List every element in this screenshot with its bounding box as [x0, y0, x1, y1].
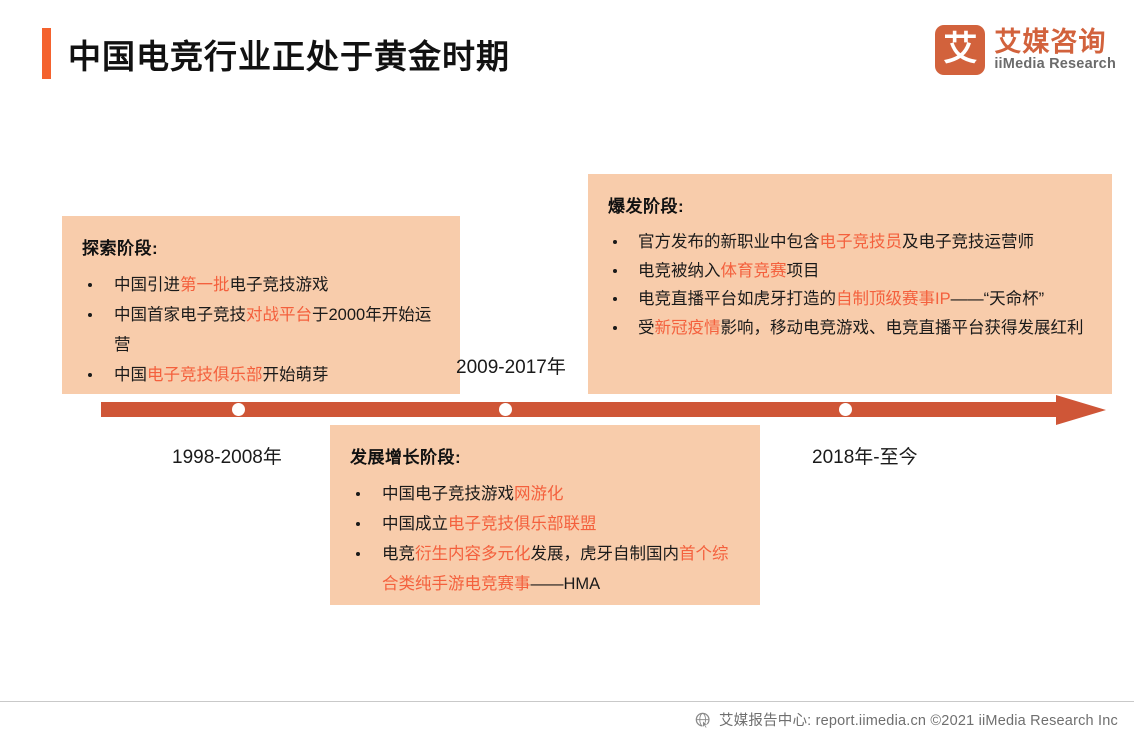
- page-title: 中国电竞行业正处于黄金时期: [68, 30, 510, 78]
- phase-box-explosion: 爆发阶段: 官方发布的新职业中包含电子竞技员及电子竞技运营师电竞被纳入体育竞赛项…: [588, 174, 1112, 394]
- phase-bullet-item: 中国首家电子竞技对战平台于2000年开始运营: [82, 300, 444, 360]
- highlight-text: 新冠疫情: [655, 319, 721, 337]
- bullet-text: 电子竞技游戏: [230, 276, 329, 294]
- bullet-text: 官方发布的新职业中包含: [638, 233, 820, 251]
- slide-footer: 艾媒报告中心: report.iimedia.cn ©2021 iiMedia …: [0, 701, 1134, 737]
- phase-bullet-item: 中国电子竞技游戏网游化: [350, 479, 744, 509]
- phase-bullet-item: 中国成立电子竞技俱乐部联盟: [350, 509, 744, 539]
- bullet-text: 中国首家电子竞技: [114, 306, 246, 324]
- phase-box-exploration: 探索阶段: 中国引进第一批电子竞技游戏中国首家电子竞技对战平台于2000年开始运…: [62, 216, 460, 394]
- timeline-bar: [101, 402, 1064, 417]
- timeline-arrowhead-icon: [1056, 395, 1106, 425]
- period-label-2018-now: 2018年-至今: [812, 442, 918, 469]
- phase-bullet-item: 中国电子竞技俱乐部开始萌芽: [82, 360, 444, 390]
- timeline-arrow: [101, 399, 1105, 419]
- timeline-dot-2[interactable]: [839, 403, 852, 416]
- highlight-text: 网游化: [514, 485, 564, 503]
- globe-cursor-icon: [695, 712, 712, 729]
- highlight-text: 对战平台: [246, 306, 312, 324]
- highlight-text: 衍生内容多元化: [415, 545, 531, 563]
- timeline-dot-0[interactable]: [232, 403, 245, 416]
- bullet-text: 中国引进: [114, 276, 180, 294]
- phase-bullet-list: 中国引进第一批电子竞技游戏中国首家电子竞技对战平台于2000年开始运营中国电子竞…: [82, 270, 444, 390]
- logo-name-cn: 艾媒咨询: [994, 28, 1116, 56]
- phase-bullet-item: 受新冠疫情影响，移动电竞游戏、电竞直播平台获得发展红利: [608, 314, 1096, 343]
- title-accent-bar: [42, 28, 51, 79]
- highlight-text: 第一批: [180, 276, 230, 294]
- phase-bullet-list: 官方发布的新职业中包含电子竞技员及电子竞技运营师电竞被纳入体育竞赛项目电竞直播平…: [608, 228, 1096, 343]
- bullet-text: 受: [638, 319, 655, 337]
- phase-bullet-item: 官方发布的新职业中包含电子竞技员及电子竞技运营师: [608, 228, 1096, 257]
- bullet-text: 中国成立: [382, 515, 448, 533]
- bullet-text: 中国: [114, 366, 147, 384]
- highlight-text: 电子竞技员: [820, 233, 903, 251]
- highlight-text: 电子竞技俱乐部联盟: [448, 515, 597, 533]
- bullet-text: 及电子竞技运营师: [902, 233, 1034, 251]
- highlight-text: 电子竞技俱乐部: [147, 366, 263, 384]
- highlight-text: 自制顶级赛事IP: [836, 290, 951, 308]
- bullet-text: 开始萌芽: [263, 366, 329, 384]
- phase-heading: 爆发阶段:: [608, 192, 1096, 217]
- slide-header: 中国电竞行业正处于黄金时期 艾 艾媒咨询 iiMedia Research: [0, 0, 1134, 100]
- phase-bullet-item: 电竞衍生内容多元化发展，虎牙自制国内首个综合类纯手游电竞赛事——HMA: [350, 539, 744, 599]
- bullet-text: 电竞: [382, 545, 415, 563]
- phase-bullet-item: 电竞直播平台如虎牙打造的自制顶级赛事IP——“天命杯”: [608, 285, 1096, 314]
- period-label-2009-2017: 2009-2017年: [456, 352, 566, 379]
- bullet-text: ——HMA: [531, 575, 601, 593]
- logo-mark-icon: 艾: [935, 25, 985, 75]
- bullet-text: 项目: [787, 262, 820, 280]
- logo-wordmark: 艾媒咨询 iiMedia Research: [994, 28, 1116, 73]
- bullet-text: 影响，移动电竞游戏、电竞直播平台获得发展红利: [721, 319, 1084, 337]
- bullet-text: 电竞被纳入: [638, 262, 721, 280]
- bullet-text: 中国电子竞技游戏: [382, 485, 514, 503]
- phase-heading: 探索阶段:: [82, 234, 444, 259]
- period-label-1998-2008: 1998-2008年: [172, 442, 282, 469]
- phase-box-growth: 发展增长阶段: 中国电子竞技游戏网游化中国成立电子竞技俱乐部联盟电竞衍生内容多元…: [330, 425, 760, 605]
- highlight-text: 体育竞赛: [721, 262, 787, 280]
- logo-name-en: iiMedia Research: [994, 57, 1116, 72]
- phase-bullet-list: 中国电子竞技游戏网游化中国成立电子竞技俱乐部联盟电竞衍生内容多元化发展，虎牙自制…: [350, 479, 744, 599]
- phase-bullet-item: 中国引进第一批电子竞技游戏: [82, 270, 444, 300]
- phase-bullet-item: 电竞被纳入体育竞赛项目: [608, 257, 1096, 286]
- bullet-text: 发展，虎牙自制国内: [531, 545, 680, 563]
- footer-text: 艾媒报告中心: report.iimedia.cn ©2021 iiMedia …: [719, 709, 1118, 730]
- bullet-text: ——“天命杯”: [951, 290, 1045, 308]
- phase-heading: 发展增长阶段:: [350, 443, 744, 468]
- brand-logo: 艾 艾媒咨询 iiMedia Research: [935, 25, 1116, 75]
- slide-canvas: 中国电竞行业正处于黄金时期 艾 艾媒咨询 iiMedia Research 探索…: [0, 0, 1134, 737]
- timeline-dot-1[interactable]: [499, 403, 512, 416]
- bullet-text: 电竞直播平台如虎牙打造的: [638, 290, 836, 308]
